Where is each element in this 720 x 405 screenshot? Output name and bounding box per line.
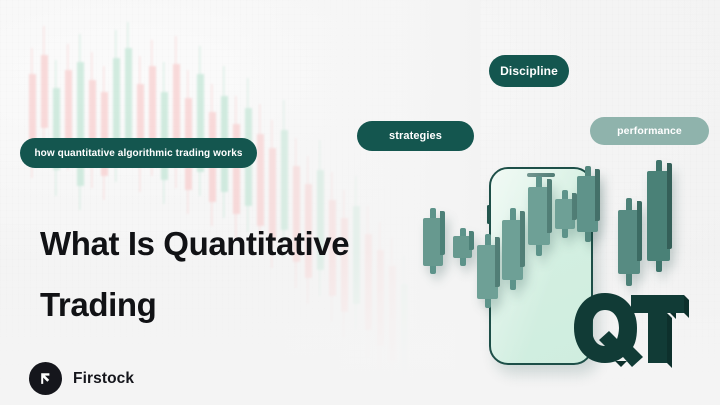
candle-3d	[577, 166, 598, 242]
candle-3d	[647, 160, 670, 272]
candle-3d	[528, 176, 550, 256]
badge-strategies[interactable]: strategies	[357, 121, 474, 151]
brand-lockup[interactable]: Firstock	[29, 362, 134, 395]
badge-discipline[interactable]: Discipline	[489, 55, 569, 87]
page-title-line-2: Trading	[40, 274, 440, 335]
phone-side-button	[487, 205, 490, 224]
candle-3d	[453, 228, 472, 266]
badge-keyword-label: how quantitative algorithmic trading wor…	[34, 148, 242, 159]
page-title: What Is Quantitative Trading	[40, 213, 440, 335]
badge-discipline-label: Discipline	[500, 64, 558, 78]
arrow-up-right-flag-icon	[29, 362, 62, 395]
badge-performance[interactable]: performance	[590, 117, 709, 145]
candle-3d	[477, 234, 498, 308]
promotional-banner: how quantitative algorithmic trading wor…	[0, 0, 720, 405]
qt-monogram	[571, 289, 689, 373]
brand-name: Firstock	[73, 370, 134, 388]
badge-strategies-label: strategies	[389, 130, 442, 142]
candle-3d	[502, 208, 523, 290]
hero-artwork	[405, 150, 720, 405]
page-title-line-1: What Is Quantitative	[40, 213, 440, 274]
candle-3d	[555, 190, 575, 238]
badge-keyword[interactable]: how quantitative algorithmic trading wor…	[20, 138, 257, 168]
badge-performance-label: performance	[617, 125, 682, 137]
candle-3d	[618, 198, 640, 286]
